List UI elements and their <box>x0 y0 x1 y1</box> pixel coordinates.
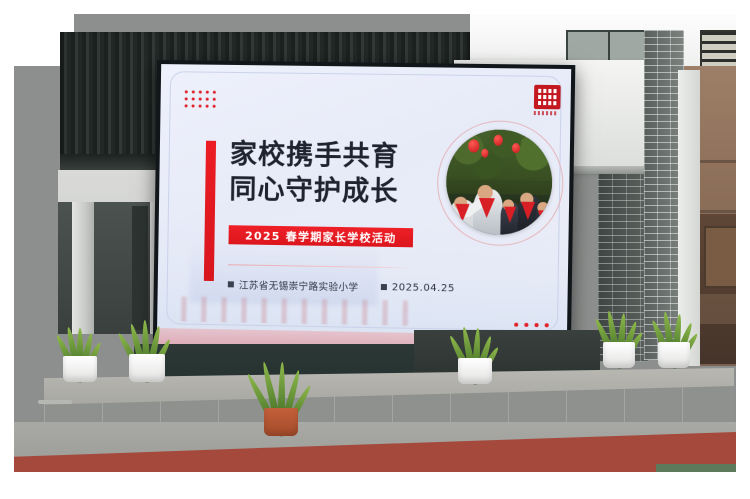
white-pot <box>658 342 690 368</box>
screenshot-root: 家校携手共育 同心守护成长 2025 春学期家长学校活动 江苏省无锡崇宁路实验小… <box>0 0 750 499</box>
school-name-item: 江苏省无锡崇宁路实验小学 <box>228 277 359 293</box>
white-pot <box>129 354 165 382</box>
courtyard-photo: 家校携手共育 同心守护成长 2025 春学期家长学校活动 江苏省无锡崇宁路实验小… <box>14 14 736 472</box>
lantern-icon <box>493 135 502 146</box>
event-date-label: 2025.04.25 <box>392 282 455 294</box>
date-item: 2025.04.25 <box>381 281 455 293</box>
headline-line-1: 家校携手共育 <box>230 137 463 176</box>
white-pot <box>63 356 97 382</box>
planter-white-4 <box>588 286 650 368</box>
planter-white-3 <box>444 302 506 384</box>
led-display-screen[interactable]: 家校携手共育 同心守护成长 2025 春学期家长学校活动 江苏省无锡崇宁路实验小… <box>157 64 571 354</box>
seal-subtext <box>534 111 559 115</box>
headline-line-2: 同心守护成长 <box>229 172 462 211</box>
event-banner: 2025 春学期家长学校活动 <box>228 225 413 247</box>
track-green-edge <box>656 464 736 472</box>
square-bullet-icon <box>228 281 234 287</box>
school-seal-icon <box>534 85 559 114</box>
planter-terracotta <box>246 330 316 436</box>
lantern-icon <box>482 149 489 158</box>
lantern-icon <box>512 143 520 153</box>
school-name-label: 江苏省无锡崇宁路实验小学 <box>239 277 359 293</box>
led-display-frame[interactable]: 家校携手共育 同心守护成长 2025 春学期家长学校活动 江苏省无锡崇宁路实验小… <box>153 60 576 358</box>
planter-white-5 <box>644 286 704 368</box>
white-pot <box>603 342 635 368</box>
slide-headline: 家校携手共育 同心守护成长 <box>229 137 462 211</box>
seal-mark <box>534 85 561 110</box>
stage-handrail <box>38 400 72 404</box>
terracotta-pot <box>264 408 298 436</box>
square-bullet-icon <box>381 284 387 290</box>
photo-students-group <box>446 179 553 235</box>
doorway-window <box>704 226 736 288</box>
bottom-dots-decoration <box>514 323 549 328</box>
slide-circular-photo <box>446 129 553 235</box>
dot-grid-decoration <box>184 90 219 111</box>
planter-white-1 <box>50 304 110 382</box>
event-banner-text: 2025 春学期家长学校活动 <box>245 227 397 246</box>
white-pot <box>458 358 492 384</box>
planter-white-2 <box>114 296 180 382</box>
lantern-icon <box>468 140 479 153</box>
